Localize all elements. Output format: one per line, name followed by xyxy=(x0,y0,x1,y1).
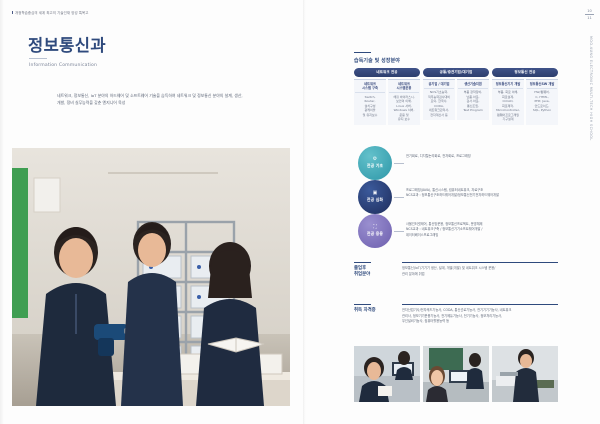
certs-label-group: 취득 자격증 xyxy=(354,304,394,314)
certs-label-rule xyxy=(354,304,371,305)
skill-column-corporate: 공통/중견기업/대기업 공기업 / 대기업 NCS기초능력, 직무능력검사대비 … xyxy=(423,68,489,125)
page-numbers: 10 11 xyxy=(585,9,594,21)
skill-column-header: 네트워크 전공 xyxy=(354,68,420,77)
skill-cell-title: 네트워크 시스템 구축 xyxy=(355,82,385,93)
skill-cell: 정보통신SW 개발 HW/펌웨어, C, HTML, PHP, Java, 안드… xyxy=(526,79,558,125)
chip-icon: ▣ xyxy=(373,191,378,196)
tier-connector xyxy=(394,231,404,232)
thumbnail-3-illustration xyxy=(492,346,558,402)
certs-label: 취득 자격증 xyxy=(354,308,394,314)
brochure-page: 개정학습중심의 세계 최고의 기술인재 양성 특목고 10 11 MOO-KUN… xyxy=(0,0,600,424)
skill-cell-title: 생산기술지원 xyxy=(458,82,488,89)
network-icon: ⛶ xyxy=(373,225,377,230)
skill-cell-title: 정보통신SW 개발 xyxy=(527,82,557,89)
tier-connector xyxy=(394,163,404,164)
kicker-bar-icon xyxy=(12,11,13,14)
right-panel: 습득기술 및 성장분야 네트워크 전공 네트워크 시스템 구축 Switch, … xyxy=(350,0,562,424)
page-subtitle: Information Communication xyxy=(29,63,97,68)
skill-cell: 네트워크 시스템 구축 Switch, Router, 설치구성 광케이블 및 … xyxy=(354,79,386,125)
skills-heading: 습득기술 및 성장분야 xyxy=(354,57,400,64)
skill-cell-title: 공기업 / 대기업 xyxy=(424,82,454,89)
photo-thumbnails xyxy=(354,346,558,402)
skill-cell-title: 정보통신기기 개발 xyxy=(493,82,523,89)
tier-row: ⚙ 전공 기초 전기회로, 디지털논리회로, 전자회로, 프로그래밍 xyxy=(358,146,558,180)
tier-badge-applied: ⛶ 전공 응용 xyxy=(358,214,392,248)
skill-columns: 네트워크 전공 네트워크 시스템 구축 Switch, Router, 설치구성… xyxy=(354,68,558,125)
skill-cell-body: 해킹 바이러스시, 보안의 이해, Linux 서버, Windows 서버, … xyxy=(389,95,419,122)
certs-top-divider xyxy=(402,304,558,305)
tier-label: 전공 기초 xyxy=(367,163,383,169)
skill-cell-body: HW/펌웨어, C, HTML, PHP, Java, 안드로이드, SQL, … xyxy=(527,90,557,113)
thumbnail-1-illustration xyxy=(354,346,420,402)
kicker-text: 개정학습중심의 세계 최고의 기술인재 양성 특목고 xyxy=(15,11,89,15)
skill-cell-body: 부품, 회로 이해, 회로설계, OrCAD, 회로제작, MicroContr… xyxy=(493,90,523,122)
skill-column-network: 네트워크 전공 네트워크 시스템 구축 Switch, Router, 설치구성… xyxy=(354,68,420,125)
skill-cell-title: 네트워크 시스템운용 xyxy=(389,82,419,93)
curriculum-tiers: ⚙ 전공 기초 전기회로, 디지털논리회로, 전자회로, 프로그래밍 ▣ 전공 … xyxy=(358,146,558,248)
hero-photo-illustration xyxy=(12,148,290,406)
skill-column-header: 정보통신 전공 xyxy=(492,68,558,77)
header-kicker: 개정학습중심의 세계 최고의 기술인재 양성 특목고 xyxy=(12,10,89,15)
page-title: 정보통신과 xyxy=(28,32,106,56)
certs-text: 전자산업기사/전자캐드기능사, CODA, 통신선로기능사, 전기기기기능사, … xyxy=(402,308,558,325)
tier-row: ⛶ 전공 응용 사물인터넷제어, 통신망운용, 정보통신프로젝트, 운영체제 N… xyxy=(358,214,558,248)
skill-cell: 공기업 / 대기업 NCS기초능력, 직무능력검사대비 모의, 한국사, COD… xyxy=(423,79,455,120)
thumbnail-2-illustration xyxy=(423,346,489,402)
tier-connector xyxy=(394,197,404,198)
lightbulb-icon: ⚙ xyxy=(373,157,377,162)
skill-cell: 네트워크 시스템운용 해킹 바이러스시, 보안의 이해, Linux 서버, W… xyxy=(388,79,420,125)
tier-description: 사물인터넷제어, 통신망운용, 정보통신프로젝트, 운영체제 NCS교과 : 네… xyxy=(406,222,556,238)
skill-column-header: 공통/중견기업/대기업 xyxy=(423,68,489,77)
skills-heading-rule xyxy=(354,52,371,53)
tier-description: 전기회로, 디지털논리회로, 전자회로, 프로그래밍 xyxy=(406,154,556,159)
skill-column-infocomm: 정보통신 전공 정보통신기기 개발 부품, 회로 이해, 회로설계, OrCAD… xyxy=(492,68,558,125)
page-number-left: 10 xyxy=(585,9,594,13)
thumbnail-photo-1 xyxy=(354,346,420,402)
page-number-right: 11 xyxy=(585,16,594,20)
career-top-divider xyxy=(402,262,558,263)
spine-vertical-text: MOO-KUNG ELECTRONIC MULTI-TECH HIGH SCHO… xyxy=(589,36,593,141)
tier-label: 전공 응용 xyxy=(367,231,383,237)
career-text: 정보통신(IoT)기기기 생산, 설계, 개발(개발) 및 네트워크 시스템 운… xyxy=(402,266,558,277)
tier-row: ▣ 전공 심화 프로그래밍(JAVA), 통신시스템, 컴퓨터네트워크, 자료구… xyxy=(358,180,558,214)
tier-label: 전공 심화 xyxy=(367,197,383,203)
thumbnail-photo-3 xyxy=(492,346,558,402)
tier-badge-advanced: ▣ 전공 심화 xyxy=(358,180,392,214)
hero-photo xyxy=(12,148,290,406)
tier-description: 프로그래밍(JAVA), 통신시스템, 컴퓨터네트워크, 자료구조 NCS교과 … xyxy=(406,188,556,199)
tier-badge-basic: ⚙ 전공 기초 xyxy=(358,146,392,180)
skill-cell-body: 부품 장착장비, 납품·아웃, 검사·아웃, 통신조립, Test Progra… xyxy=(458,90,488,113)
page-left-edge xyxy=(0,0,4,424)
title-divider xyxy=(29,58,47,59)
thumbnail-photo-2 xyxy=(423,346,489,402)
page-fold-shadow xyxy=(303,0,306,424)
career-label-rule xyxy=(354,262,371,263)
skill-cell-body: Switch, Router, 설치구성 광케이블 및 유지보수 xyxy=(355,95,385,118)
skill-cell: 생산기술지원 부품 장착장비, 납품·아웃, 검사·아웃, 통신조립, Test… xyxy=(457,79,489,120)
career-label: 졸업후 취업분야 xyxy=(354,266,394,278)
career-label-group: 졸업후 취업분야 xyxy=(354,262,394,278)
skill-cell-body: NCS기초능력, 직무능력검사대비 모의, 한국사, CODA, 네트워크관리사… xyxy=(424,90,454,117)
skill-cell: 정보통신기기 개발 부품, 회로 이해, 회로설계, OrCAD, 회로제작, … xyxy=(492,79,524,125)
intro-paragraph: 네트워크, 정보통신, IoT 분야의 하드웨어 및 소프트웨어 기술을 습득하… xyxy=(57,92,247,106)
